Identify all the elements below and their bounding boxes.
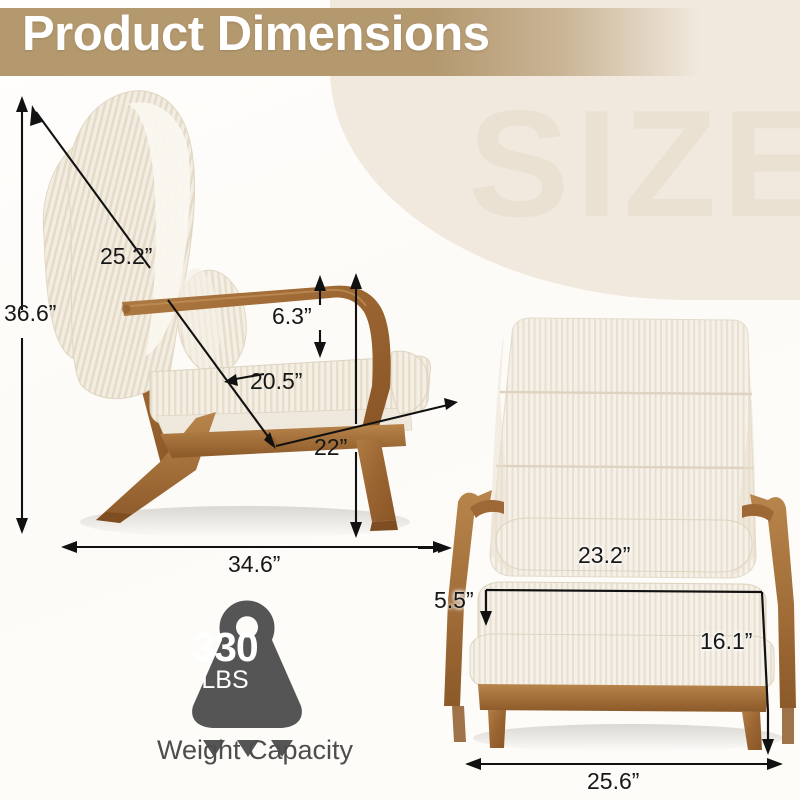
dimension-label-seat-height: 16.1” xyxy=(700,628,752,655)
dimension-label-seat-depth: 20.5” xyxy=(250,368,302,395)
dimension-label-seat-width: 23.2” xyxy=(578,542,630,569)
dimension-label-total-height: 36.6” xyxy=(4,300,56,327)
dimension-label-seat-to-back: 22” xyxy=(314,434,347,461)
size-watermark: SIZE xyxy=(468,88,800,240)
dimension-label-total-depth: 34.6” xyxy=(228,551,280,578)
product-dimensions-infographic: SIZE Product Dimensions xyxy=(0,0,800,800)
dimension-label-total-width: 25.6” xyxy=(587,768,639,795)
weight-capacity-value: 330 xyxy=(125,624,325,671)
weight-capacity-label: Weight Capacity xyxy=(110,735,400,766)
dimension-label-back-height: 25.2” xyxy=(100,243,152,270)
dimension-label-arm-height: 6.3” xyxy=(272,303,312,330)
weight-capacity-unit: LBS xyxy=(125,666,325,695)
weight-capacity-badge: 330 LBS Weight Capacity xyxy=(125,600,415,780)
page-title: Product Dimensions xyxy=(22,10,489,59)
dimension-label-cushion-height: 5.5” xyxy=(434,587,474,614)
